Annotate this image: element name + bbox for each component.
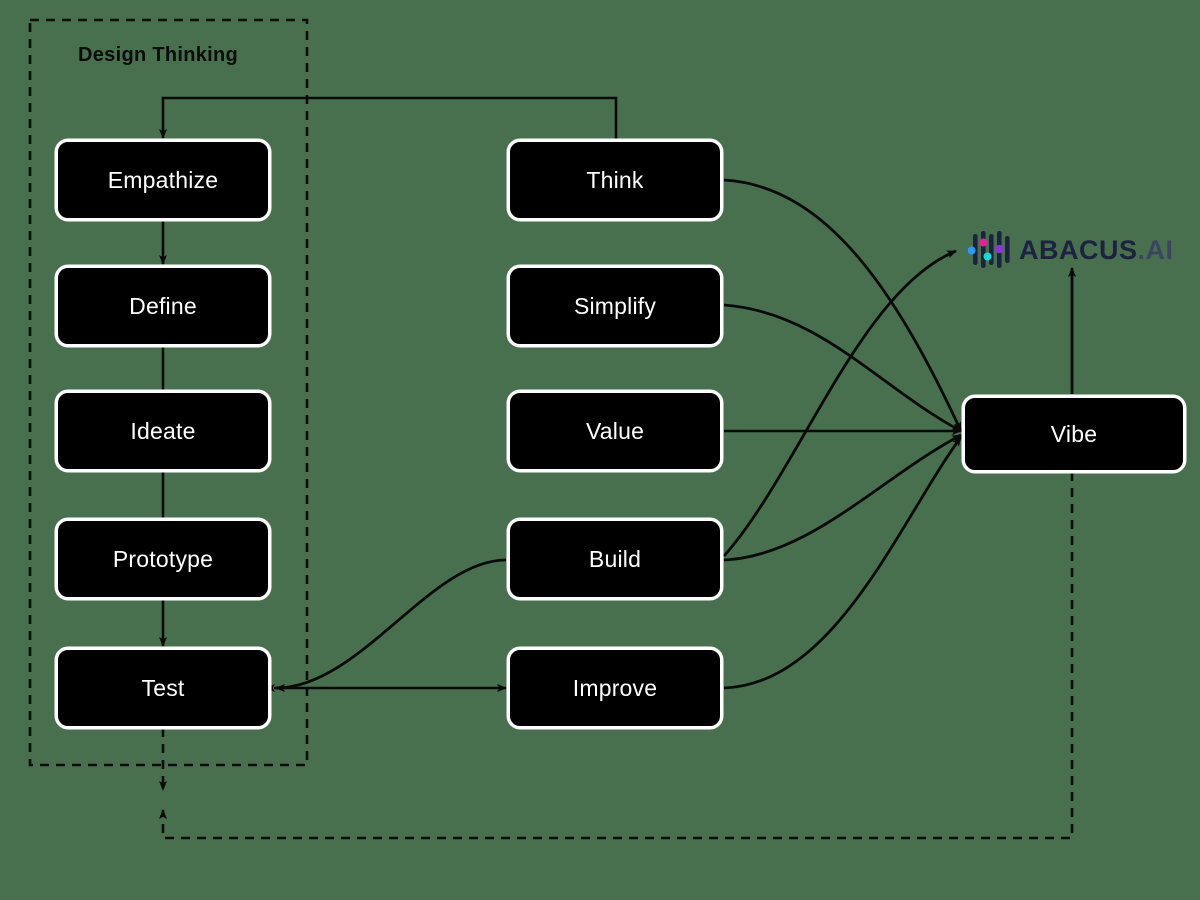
node-label: Empathize: [108, 169, 218, 192]
abacus-wordmark-main: ABACUS: [1019, 235, 1138, 265]
edge-think-empathize: [163, 98, 616, 140]
node-simplify[interactable]: Simplify: [508, 266, 722, 346]
edge-think-vibe: [724, 180, 961, 431]
node-ideate[interactable]: Ideate: [56, 391, 270, 471]
node-value[interactable]: Value: [508, 391, 722, 471]
node-label: Ideate: [130, 420, 195, 443]
abacus-wordmark: ABACUS.AI: [1019, 237, 1174, 264]
node-label: Test: [142, 677, 185, 700]
edge-improve-vibe: [724, 437, 961, 688]
edge-build-vibe: [724, 435, 961, 560]
node-label: Vibe: [1051, 423, 1097, 446]
diagram-canvas: Design Thinking Empathize Define Ideate …: [0, 0, 1200, 900]
edge-think-abacus: [724, 251, 956, 556]
node-think[interactable]: Think: [508, 140, 722, 220]
node-prototype[interactable]: Prototype: [56, 519, 270, 599]
node-label: Define: [129, 295, 197, 318]
design-thinking-group-title: Design Thinking: [78, 44, 238, 67]
node-label: Improve: [573, 677, 657, 700]
node-label: Prototype: [113, 548, 213, 571]
node-improve[interactable]: Improve: [508, 648, 722, 728]
node-test[interactable]: Test: [56, 648, 270, 728]
node-empathize[interactable]: Empathize: [56, 140, 270, 220]
abacus-wordmark-suffix: .AI: [1138, 235, 1174, 265]
node-vibe[interactable]: Vibe: [963, 396, 1185, 472]
node-build[interactable]: Build: [508, 519, 722, 599]
node-define[interactable]: Define: [56, 266, 270, 346]
abacus-icon: [968, 230, 1012, 270]
node-label: Build: [589, 548, 641, 571]
node-label: Value: [586, 420, 644, 443]
edge-build-test: [276, 560, 506, 688]
node-label: Simplify: [574, 295, 656, 318]
node-label: Think: [586, 169, 643, 192]
abacus-ai-logo: ABACUS.AI: [968, 230, 1174, 270]
